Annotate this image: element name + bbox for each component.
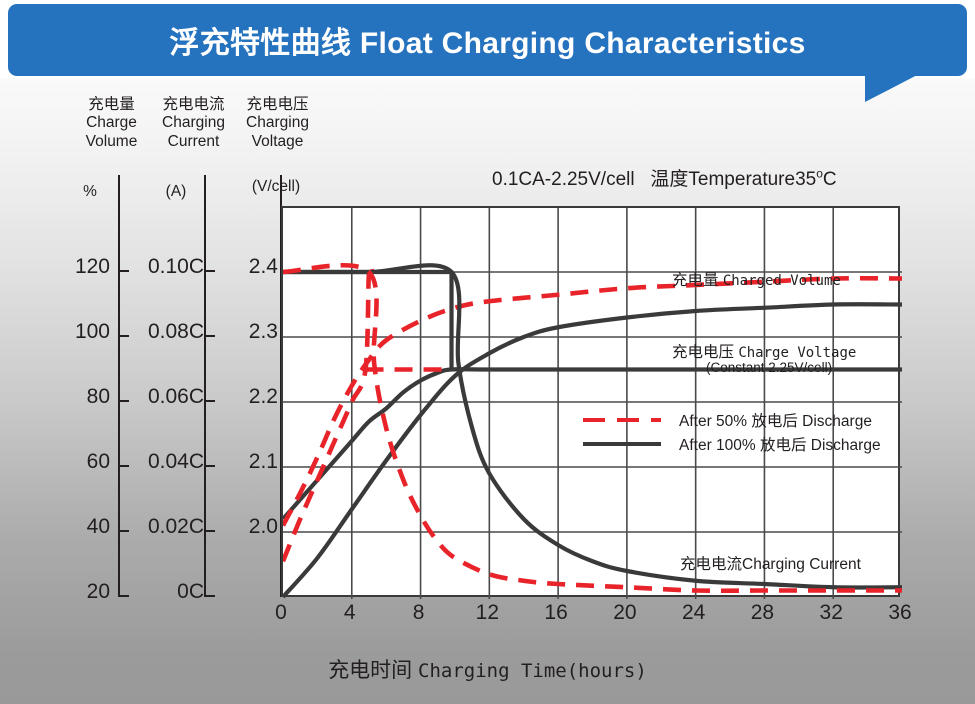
y-tick-mark-charging-current <box>204 530 215 532</box>
legend-swatch-solid-icon <box>583 442 661 446</box>
y-tick-label-charge-volume: 40 <box>48 515 110 539</box>
x-tick-label: 32 <box>820 601 843 625</box>
x-tick-label: 4 <box>344 601 356 625</box>
header-banner: 浮充特性曲线 Float Charging Characteristics <box>8 4 967 76</box>
y-tick-row: 400.02C2.0 <box>48 530 288 532</box>
y-tick-label-charge-volume: 100 <box>48 320 110 344</box>
y-tick-label-charging-current: 0.08C <box>126 320 204 344</box>
annotation-charge-voltage: 充电电压 Charge Voltage <box>672 340 856 362</box>
y-tick-label-charging-voltage: 2.2 <box>216 385 278 409</box>
x-tick-label: 24 <box>682 601 705 625</box>
y-tick-row: 1000.08C2.3 <box>48 335 288 337</box>
y-tick-label-charging-voltage: 2.3 <box>216 320 278 344</box>
y-tick-row: 200C <box>48 595 288 597</box>
y-tick-row: 800.06C2.2 <box>48 400 288 402</box>
x-tick-label: 20 <box>613 601 636 625</box>
annotation-charge-voltage-subtext: (Constant 2.25V/cell) <box>706 360 832 375</box>
x-axis-tick-group: 04812162024283236 <box>281 601 900 631</box>
x-tick-label: 16 <box>544 601 567 625</box>
legend-swatch-dashed-icon <box>583 418 661 422</box>
y-tick-label-charge-volume: 20 <box>48 580 110 604</box>
y-tick-label-charge-volume: 120 <box>48 255 110 279</box>
axis-header-charging-voltage: 充电电压 Charging Voltage <box>230 96 325 151</box>
axis-header-charge-volume: 充电量 Charge Volume <box>64 96 159 151</box>
y-tick-row: 600.04C2.1 <box>48 465 288 467</box>
chart-canvas <box>283 208 902 599</box>
x-tick-label: 8 <box>413 601 425 625</box>
x-tick-label: 36 <box>888 601 911 625</box>
y-tick-row: 1200.10C2.4 <box>48 270 288 272</box>
header-bubble-tail <box>865 74 925 102</box>
page-title: 浮充特性曲线 Float Charging Characteristics <box>8 4 967 76</box>
y-tick-label-charging-voltage: 2.0 <box>216 515 278 539</box>
axis-unit-charge-volume: % <box>64 183 116 201</box>
y-tick-label-charging-current: 0.02C <box>126 515 204 539</box>
y-tick-label-charging-current: 0.06C <box>126 385 204 409</box>
axis-unit-charging-voltage: (V/cell) <box>226 178 326 196</box>
gridlines <box>283 208 902 599</box>
x-tick-label: 28 <box>751 601 774 625</box>
x-tick-label: 0 <box>275 601 287 625</box>
y-tick-label-charging-current: 0.04C <box>126 450 204 474</box>
y-tick-mark-charging-current <box>204 465 215 467</box>
y-tick-mark-charging-current <box>204 595 215 597</box>
condition-annotation: 0.1CA-2.25V/cell 温度Temperature35oC <box>492 164 837 191</box>
annotation-charged-volume: 充电量 Charged Volume <box>672 268 841 290</box>
axis-rule-charge-volume <box>118 175 120 597</box>
y-tick-label-charging-voltage: 2.1 <box>216 450 278 474</box>
y-tick-mark-charging-current <box>204 400 215 402</box>
axis-header-charging-current: 充电电流 Charging Current <box>146 96 241 151</box>
x-tick-label: 12 <box>476 601 499 625</box>
legend-label-after-100: After 100% 放电后 Discharge <box>679 433 881 455</box>
y-tick-label-charge-volume: 60 <box>48 450 110 474</box>
annotation-charging-current: 充电电流Charging Current <box>680 552 861 574</box>
axis-rule-charging-current <box>204 175 206 597</box>
y-tick-mark-charging-current <box>204 335 215 337</box>
y-tick-label-charge-volume: 80 <box>48 385 110 409</box>
y-tick-label-charging-current: 0.10C <box>126 255 204 279</box>
axis-unit-charging-current: (A) <box>146 183 206 201</box>
y-tick-label-charging-current: 0C <box>126 580 204 604</box>
y-tick-label-charging-voltage: 2.4 <box>216 255 278 279</box>
curve-charge-voltage-after-50 <box>283 265 372 561</box>
legend-label-after-50: After 50% 放电后 Discharge <box>679 409 872 431</box>
x-axis-title: 充电时间 Charging Time(hours) <box>0 654 975 684</box>
plot-area <box>281 206 900 597</box>
chart-legend: After 50% 放电后 Discharge After 100% 放电后 D… <box>583 409 893 457</box>
y-tick-mark-charging-current <box>204 270 215 272</box>
